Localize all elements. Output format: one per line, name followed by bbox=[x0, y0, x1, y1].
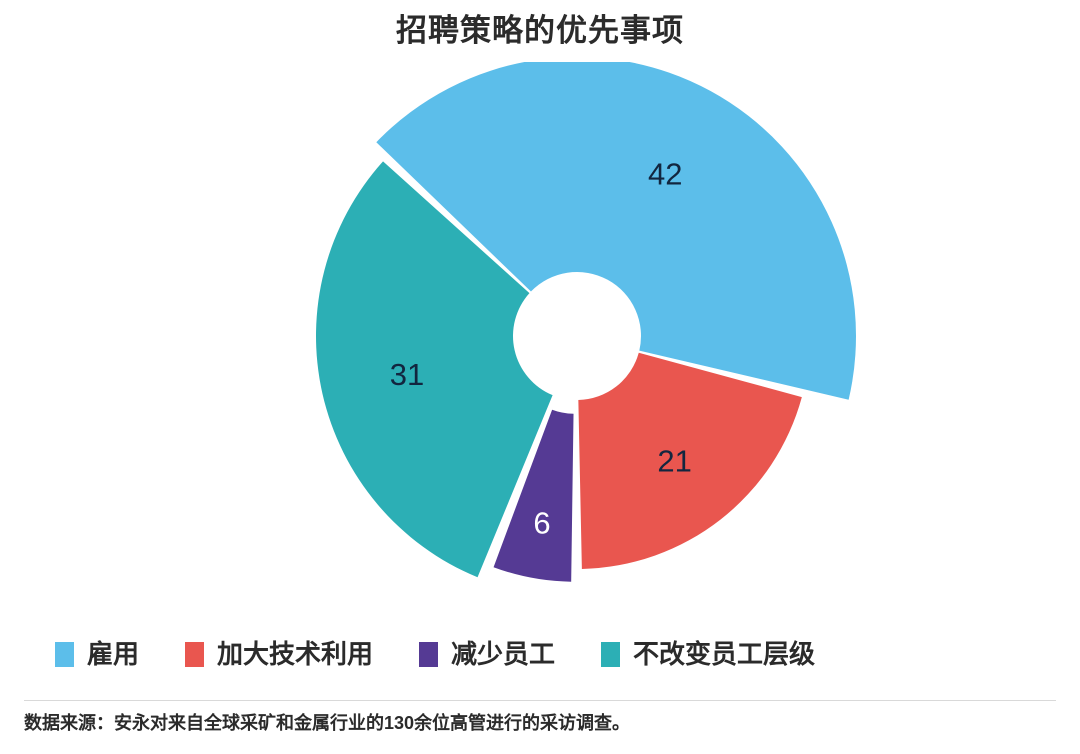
legend-item[interactable]: 不改变员工层级 bbox=[601, 639, 815, 669]
legend-item-label: 减少员工 bbox=[451, 639, 555, 669]
footer-divider bbox=[24, 700, 1056, 701]
legend-item-label: 雇用 bbox=[87, 639, 139, 669]
legend-swatch-icon bbox=[185, 642, 204, 667]
pie-slice-value-label: 42 bbox=[648, 157, 682, 192]
legend-item[interactable]: 雇用 bbox=[55, 639, 139, 669]
chart-container: 招聘策略的优先事项 4221631 雇用加大技术利用减少员工不改变员工层级 数据… bbox=[0, 0, 1080, 754]
legend-item-label: 不改变员工层级 bbox=[633, 639, 815, 669]
legend-item-label: 加大技术利用 bbox=[217, 639, 373, 669]
pie-slice-value-label: 6 bbox=[533, 505, 550, 540]
legend-item[interactable]: 减少员工 bbox=[419, 639, 555, 669]
donut-chart-svg: 4221631 bbox=[0, 62, 1080, 622]
pie-slice-value-label: 21 bbox=[657, 444, 691, 479]
source-note: 数据来源：安永对来自全球采矿和金属行业的130余位高管进行的采访调查。 bbox=[24, 708, 1064, 738]
pie-chart-plot-area: 4221631 bbox=[0, 62, 1080, 622]
pie-slice-value-label: 31 bbox=[390, 357, 424, 392]
chart-legend: 雇用加大技术利用减少员工不改变员工层级 bbox=[0, 628, 1080, 680]
chart-title: 招聘策略的优先事项 bbox=[0, 8, 1080, 54]
legend-swatch-icon bbox=[419, 642, 438, 667]
pie-slices-group bbox=[316, 62, 856, 582]
legend-swatch-icon bbox=[55, 642, 74, 667]
legend-item[interactable]: 加大技术利用 bbox=[185, 639, 373, 669]
legend-swatch-icon bbox=[601, 642, 620, 667]
